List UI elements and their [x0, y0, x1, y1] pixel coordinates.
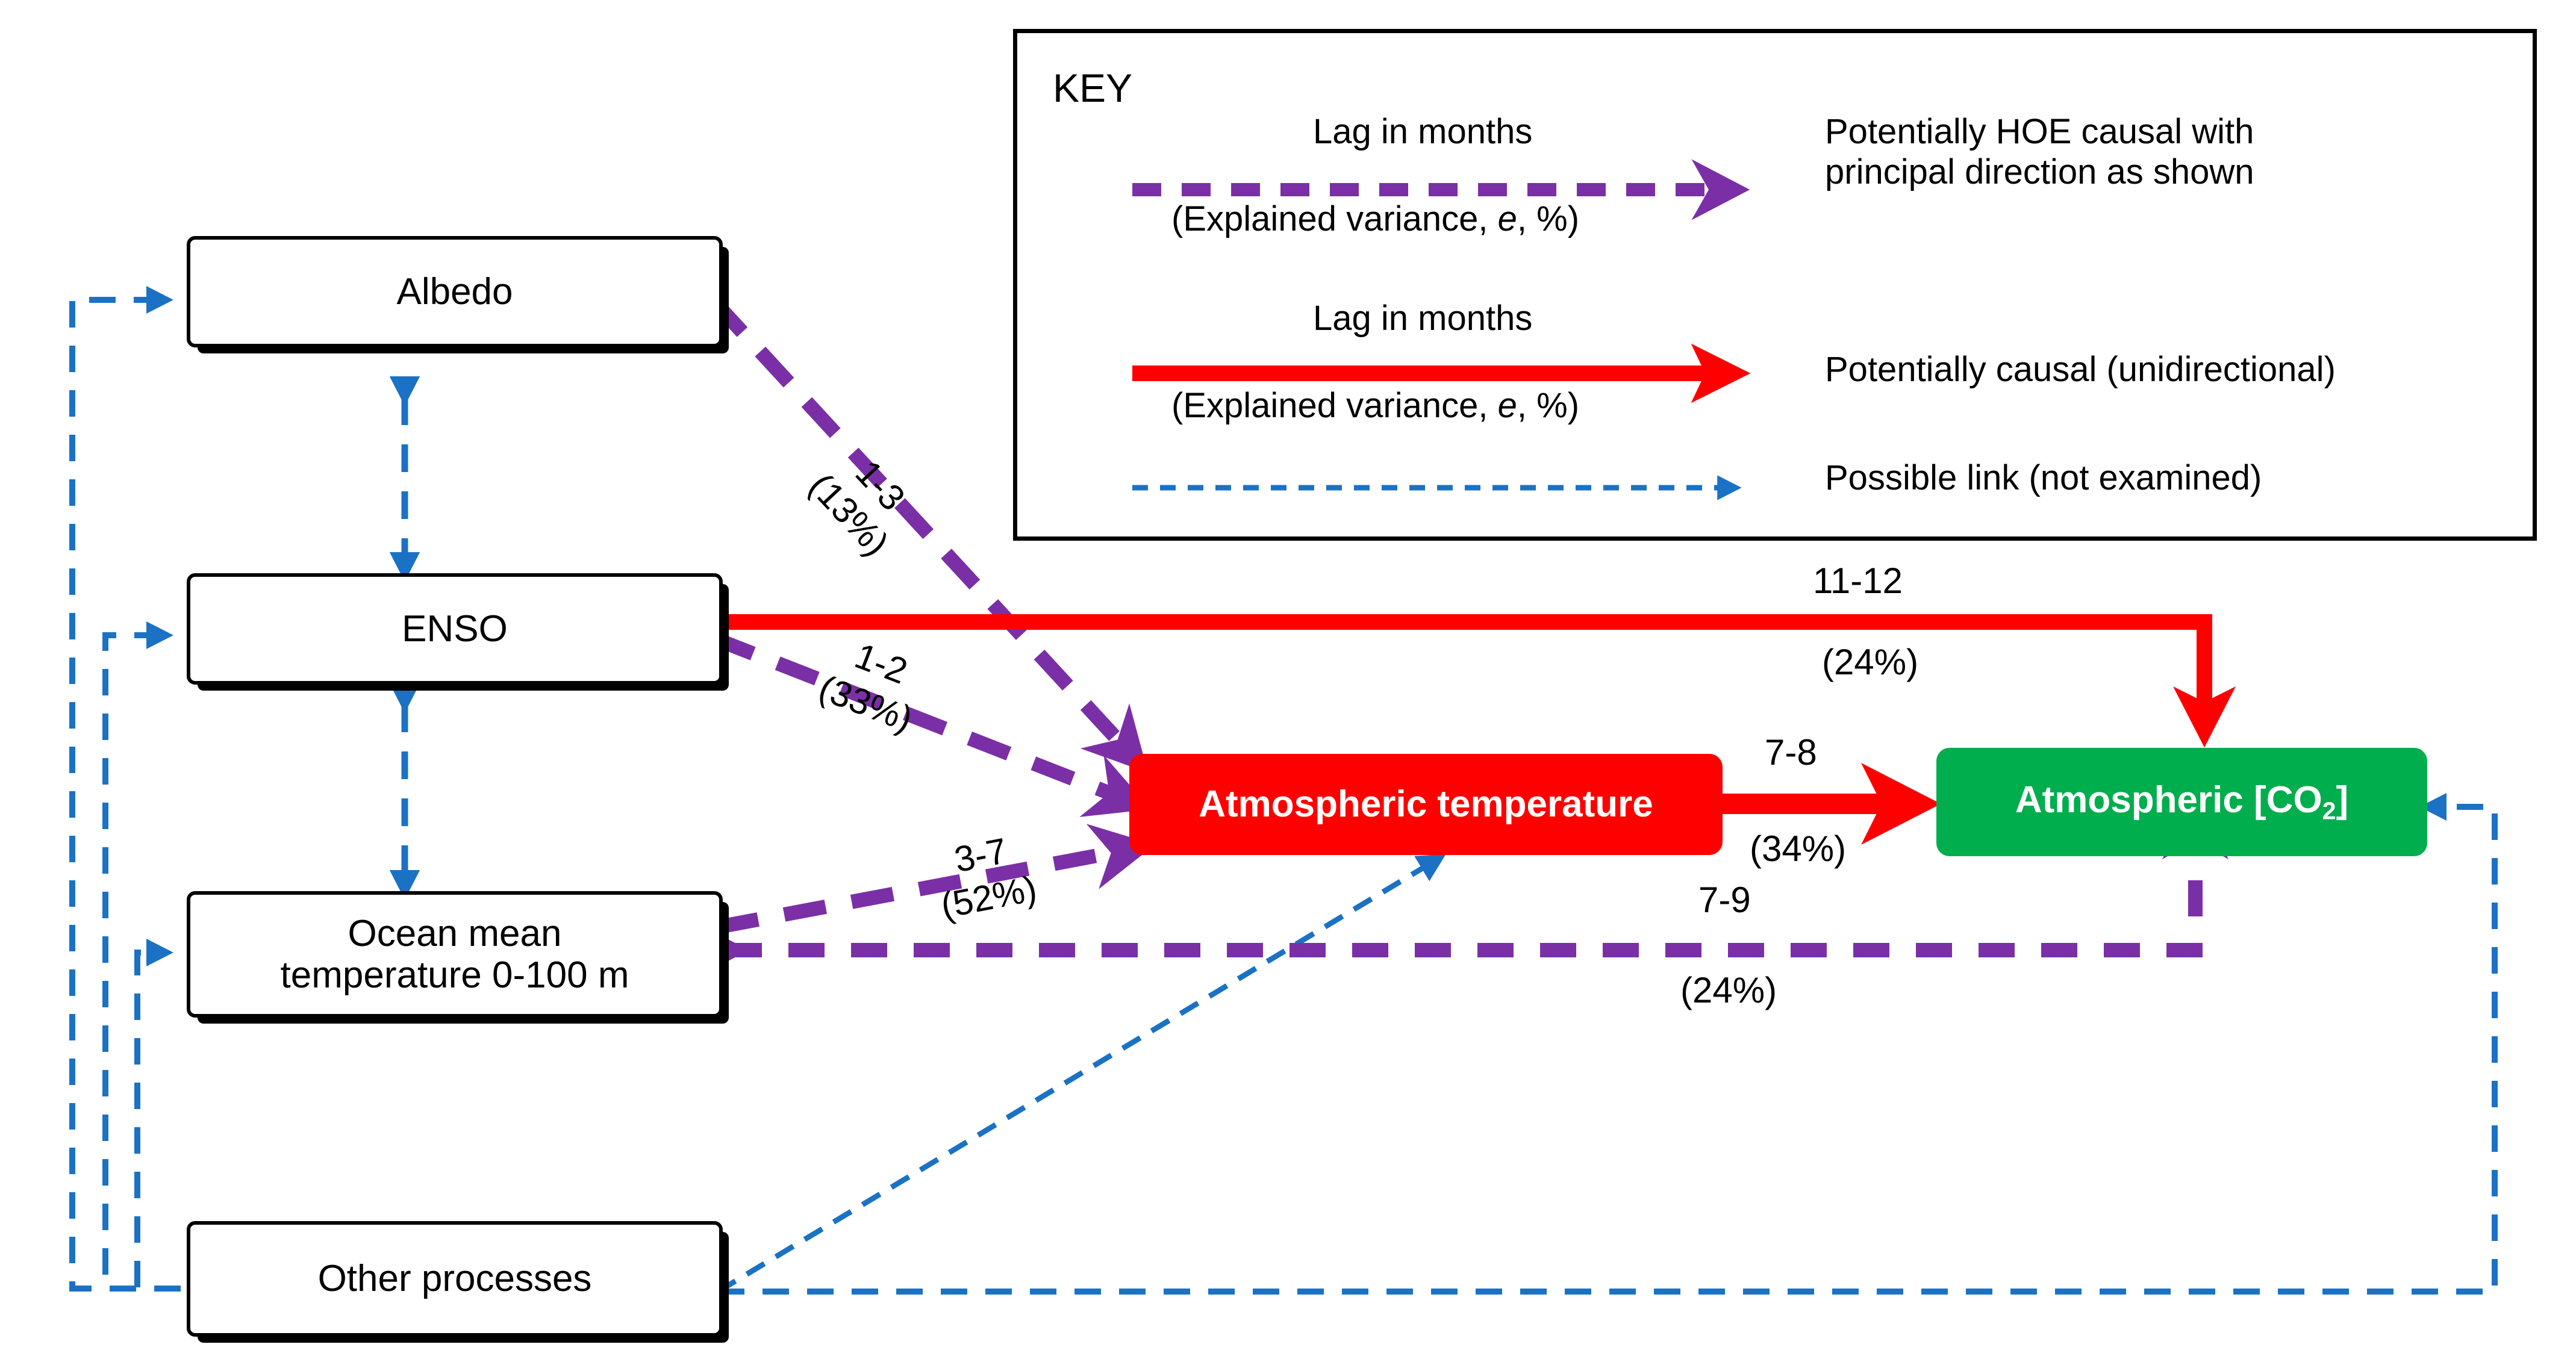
key-row-2-above: Lag in months — [1313, 298, 1532, 338]
key-row-1-below: (Explained variance, e, %) — [1171, 199, 1579, 239]
node-albedo-label: Albedo — [396, 271, 513, 312]
key-row-1-desc-line2: principal direction as shown — [1825, 152, 2254, 192]
co2-subscript: 2 — [2322, 797, 2336, 824]
co2-suffix: ] — [2336, 779, 2348, 821]
key-row-2-below: (Explained variance, e, %) — [1171, 385, 1579, 426]
node-ocean-label: Ocean mean temperature 0-100 m — [281, 913, 629, 997]
node-atmos-temp-label: Atmospheric temperature — [1199, 783, 1653, 825]
edge-var-34: (34%) — [1750, 828, 1846, 869]
key-row-2-desc: Potentially causal (unidirectional) — [1825, 349, 2336, 390]
blue-link-other-to-ocean — [137, 953, 181, 1289]
key-title: KEY — [1053, 65, 1132, 111]
co2-prefix: Atmospheric [CO — [2015, 779, 2322, 821]
edge-lag-11-12: 11-12 — [1813, 560, 1903, 602]
key-row-1-below-post: , %) — [1517, 199, 1579, 238]
node-other-processes[interactable]: Other processes — [187, 1221, 723, 1337]
key-row-1-below-pre: (Explained variance, — [1171, 199, 1498, 238]
edge-var-24-ocean: (24%) — [1680, 969, 1777, 1011]
node-atmos-co2-label: Atmospheric [CO2] — [2015, 779, 2348, 825]
key-row-2-below-ital: e — [1498, 386, 1517, 425]
node-albedo[interactable]: Albedo — [187, 236, 723, 347]
node-other-label: Other processes — [318, 1258, 592, 1299]
key-row-2-below-post: , %) — [1517, 386, 1579, 425]
edge-lag-7-8: 7-8 — [1765, 732, 1817, 773]
node-enso[interactable]: ENSO — [187, 573, 723, 685]
node-ocean-mean-temperature[interactable]: Ocean mean temperature 0-100 m — [187, 891, 723, 1018]
node-atmospheric-co2[interactable]: Atmospheric [CO2] — [1936, 748, 2427, 856]
node-enso-label: ENSO — [402, 608, 508, 650]
edge-enso-to-co2 — [714, 622, 2204, 726]
edge-var-24-enso: (24%) — [1822, 641, 1918, 683]
edge-ocean-to-temp — [717, 849, 1132, 927]
key-row-1-desc: Potentially HOE causal with principal di… — [1825, 111, 2254, 193]
edge-lag-7-9: 7-9 — [1698, 879, 1751, 921]
blue-link-other-to-temp — [718, 858, 1439, 1292]
key-row-2-below-pre: (Explained variance, — [1171, 386, 1498, 425]
key-row-3-arrow — [1120, 458, 1795, 518]
edge-label-ocean-to-temp: 3-7 (52%) — [929, 826, 1040, 928]
key-row-1-above: Lag in months — [1313, 111, 1532, 152]
blue-link-other-to-albedo — [72, 300, 181, 1289]
diagram-canvas: Albedo ENSO Ocean mean temperature 0-100… — [0, 0, 2576, 1365]
node-atmospheric-temperature[interactable]: Atmospheric temperature — [1129, 754, 1723, 855]
key-row-3-desc: Possible link (not examined) — [1825, 458, 2262, 498]
blue-link-other-to-enso — [105, 635, 181, 1289]
key-row-1-below-ital: e — [1498, 199, 1517, 238]
key-row-1-desc-line1: Potentially HOE causal with — [1825, 111, 2254, 152]
